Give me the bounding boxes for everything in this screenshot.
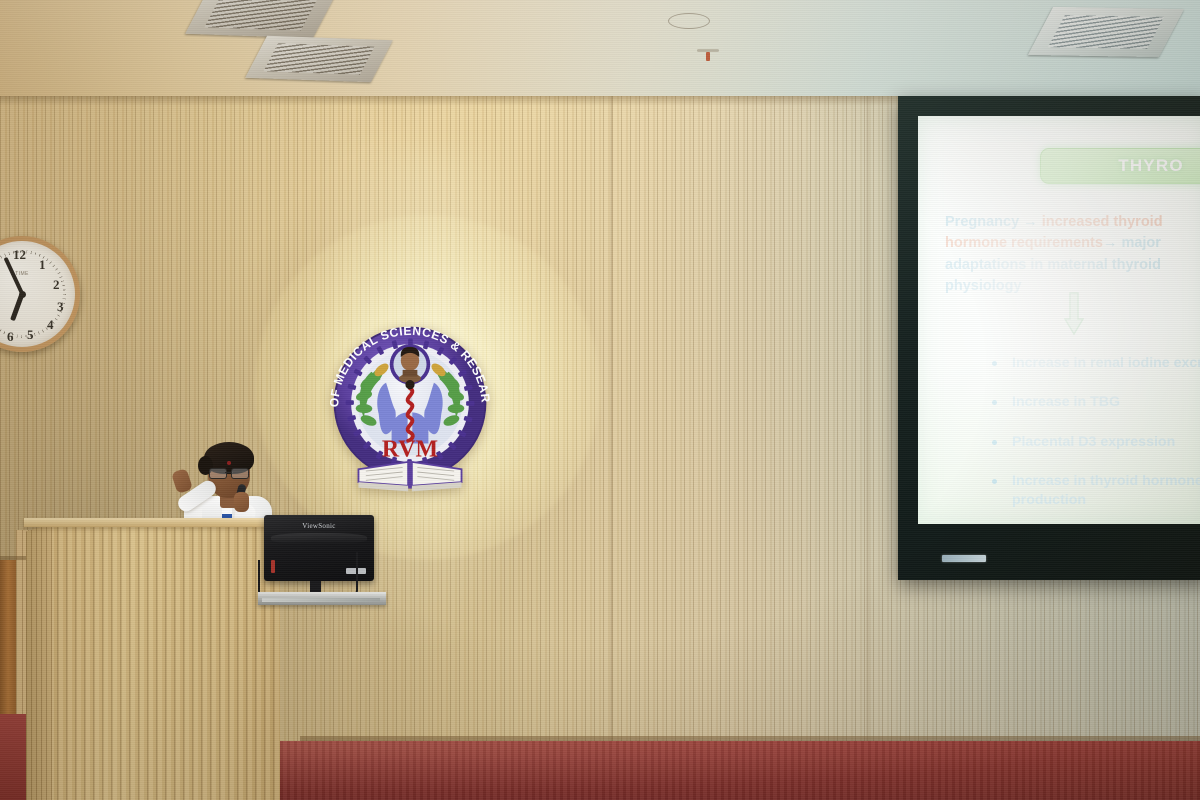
eyeglasses-icon: [209, 468, 249, 477]
projection-screen-frame: THYRO Pregnancy → increased thyroid horm…: [898, 96, 1200, 580]
list-item: Increase in renal iodine excretion: [986, 354, 1200, 373]
bindi: [227, 461, 231, 465]
projection-screen: THYRO Pregnancy → increased thyroid horm…: [918, 116, 1200, 524]
clock-numeral: 4: [47, 317, 54, 333]
ceiling-vent-icon: [185, 0, 337, 38]
clock-numeral: 3: [57, 299, 64, 315]
ceiling-vent-icon: [1028, 7, 1184, 57]
equipment-shelf-lip: [262, 598, 380, 602]
lectern-top-surface: [24, 518, 282, 527]
hand-right: [234, 492, 249, 512]
arrow-glyph-icon: →: [1103, 235, 1118, 251]
slide-bullet-list: Increase in renal iodine excretion Incre…: [946, 354, 1200, 524]
lectern: [48, 524, 280, 800]
recessed-light-icon: [668, 13, 710, 29]
institution-emblem: INSTITUTE OF MEDICAL SCIENCES & RESEARCH…: [318, 310, 502, 496]
screen-frame-label: [942, 555, 986, 562]
clock-numeral: 5: [27, 327, 34, 343]
clock-numeral: 2: [53, 277, 60, 293]
clock-numeral: 12: [13, 247, 26, 263]
ceiling-vent-icon: [245, 36, 393, 82]
monitor-indicator: [271, 560, 275, 573]
down-arrow-icon: [1064, 292, 1084, 336]
list-item: Increase in thyroid hormone production: [986, 472, 1200, 511]
lectern-bevel: [26, 524, 52, 800]
clock-numeral: 6: [7, 329, 14, 345]
clock-numeral: 1: [39, 257, 46, 273]
clock-brand-label: TIME: [15, 271, 29, 277]
carpet-floor-left: [0, 714, 26, 800]
clock-center-pin: [19, 291, 26, 298]
fire-sprinkler-icon: [706, 52, 710, 61]
slide-title-banner: THYRO: [1040, 148, 1200, 184]
monitor-brand-label: ViewSonic: [264, 522, 374, 530]
lecture-hall-photo: INSTITUTE OF MEDICAL SCIENCES & RESEARCH…: [0, 0, 1200, 800]
list-item: Placental D3 expression: [986, 433, 1200, 452]
emblem-acronym: RVM: [382, 436, 438, 462]
list-item: Increase in TBG: [986, 393, 1200, 412]
arrow-glyph-icon: →: [1023, 214, 1038, 230]
slide-lead-part: Pregnancy: [945, 214, 1023, 230]
slide-lead-text: Pregnancy → increased thyroid hormone re…: [945, 212, 1200, 298]
